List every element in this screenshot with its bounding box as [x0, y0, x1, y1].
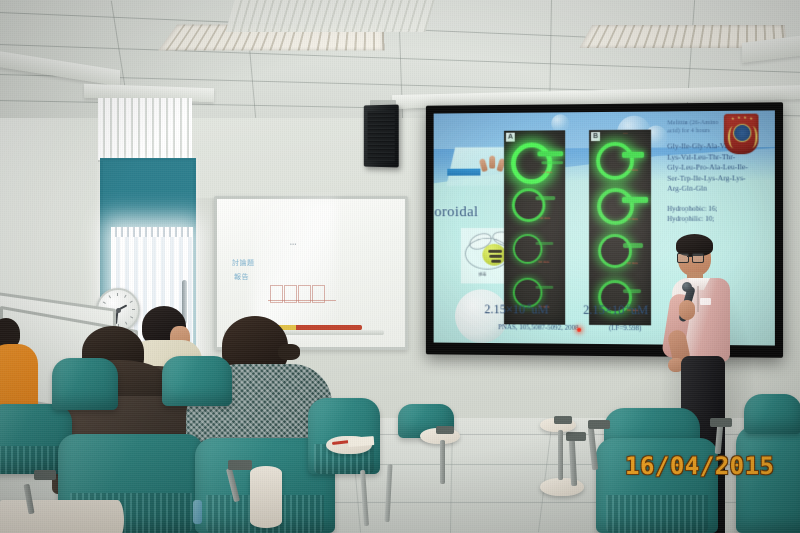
pore-model-label: toroidal [434, 204, 479, 221]
bee-stripe-1 [488, 250, 502, 253]
panel-a-conc-value: 2.15×10 [484, 302, 525, 316]
laser-pointer-dot [577, 328, 581, 332]
crest-star-1: ★ [731, 116, 735, 121]
channel-b-2 [622, 197, 648, 203]
arm-clamp-mid-right [554, 416, 572, 424]
panel-b-label: B [591, 132, 600, 141]
hydrophilic-count: Hydrophilic: 10; [667, 213, 773, 223]
water-bottle[interactable] [193, 500, 202, 524]
chair-left-back[interactable] [52, 358, 118, 410]
curtain-header [111, 227, 193, 237]
slide-impact-factor: (I.F=9.598) [609, 324, 641, 332]
whiteboard-note-2: 報告 [234, 272, 249, 282]
arm-clamp-right-1 [588, 420, 610, 429]
arm-post-mid-left [440, 440, 445, 484]
tablet-arm-front-left[interactable] [0, 500, 124, 533]
panel-b-top-note: ── [623, 132, 628, 136]
tag-a-1: 10 min [541, 170, 552, 174]
presenter-badge [700, 298, 711, 305]
crest-star-3: ★ [743, 115, 747, 120]
peptide-peg-2 [489, 156, 495, 169]
whiteboard-note-1: 討論題 [232, 258, 255, 268]
tag-b-2: 30 min [627, 217, 638, 221]
channel-a-1b [541, 161, 563, 164]
sequence-line-5: Arg-Gln-Gln [667, 183, 773, 194]
panel-b-concentration: 2.15×10-6uM [583, 302, 648, 319]
arm-clamp-front-left [34, 470, 56, 480]
paper-stack[interactable] [348, 436, 375, 447]
fluorescence-panel-a: A 10 min 30 min 60 min 90 min [504, 130, 565, 324]
wall-speaker [364, 105, 399, 168]
arm-clamp-right-2 [710, 418, 732, 427]
presenter-mic-hand [679, 300, 695, 320]
channel-a-3 [536, 242, 554, 245]
bee-stripe-2 [489, 255, 502, 258]
channel-b-1 [622, 152, 644, 158]
glasses-icon [677, 253, 703, 261]
channel-a-2 [536, 196, 556, 200]
slide-citation: PNAS, 105,5087-5092, 2008 [498, 323, 578, 332]
clock-center-pin [116, 308, 121, 313]
lipid-bilayer-left [447, 169, 480, 176]
whiteboard-diagram-axis [268, 300, 336, 301]
chair-mid-back[interactable] [162, 356, 232, 406]
arm-clamp-right-3 [566, 432, 586, 441]
hair-tie [278, 344, 300, 360]
residue-counts: Hydrophobic: 16; Hydrophilic: 10; [667, 203, 773, 223]
tablet-arm-front-center[interactable] [250, 466, 282, 528]
panel-a-conc-unit: uM [531, 303, 548, 317]
presenter-shirt-placket [697, 286, 699, 312]
vertical-blinds[interactable] [98, 98, 192, 162]
channel-b-3 [623, 243, 643, 248]
tag-b-1: 10 min [627, 168, 638, 172]
crest-star-4: ★ [749, 116, 753, 121]
ceiling-beam-left [0, 50, 120, 87]
channel-a-1 [537, 151, 563, 156]
arm-post-mid-right [558, 430, 563, 480]
arm-clamp-mid-left [436, 426, 454, 434]
panel-b-conc-unit: uM [631, 303, 648, 317]
crest-star-2: ★ [737, 115, 741, 120]
fluorescence-panel-b: B ── 10 min 30 min 60 min 90 min [589, 130, 651, 326]
camera-date-stamp: 16/04/2015 [625, 452, 775, 480]
arm-clamp-front-center [228, 460, 252, 470]
whiteboard-sketch-label: ••• [290, 243, 297, 248]
tablet-arm-right[interactable] [540, 478, 584, 496]
desk-items [330, 437, 374, 449]
droplet-b-1 [596, 142, 634, 180]
hydrophobic-count: Hydrophobic: 16; [667, 203, 773, 213]
photograph-lecture-hall: 討論題 報告 ••• toroidal [0, 0, 800, 533]
crest-emblem-center [733, 124, 751, 142]
sequence-line-3: Gly-Leu-Pro-Ala-Leu-Ile- [667, 162, 773, 173]
tag-a-2: 30 min [539, 216, 550, 220]
sequence-line-4: Ser-Trp-Ile-Lys-Arg-Lys- [667, 173, 773, 184]
panel-a-concentration: 2.15×10-8uM [484, 301, 548, 317]
bee-caption: 蜂毒 [479, 272, 487, 278]
bee-stripe-3 [491, 260, 501, 263]
chair-right-row-4[interactable] [744, 394, 800, 434]
channel-a-4 [536, 286, 554, 289]
speaker-grille [368, 111, 395, 162]
tag-a-3: 60 min [538, 260, 549, 264]
panel-a-label: A [506, 133, 515, 142]
panel-b-conc-value: 2.15×10 [583, 303, 624, 317]
tag-b-3: 60 min [627, 261, 638, 265]
microphone-capsule [682, 282, 692, 292]
university-crest-icon: ★ ★ ★ ★ [724, 114, 759, 155]
ceiling-air-diffuser [225, 0, 434, 32]
channel-b-4 [623, 289, 641, 293]
